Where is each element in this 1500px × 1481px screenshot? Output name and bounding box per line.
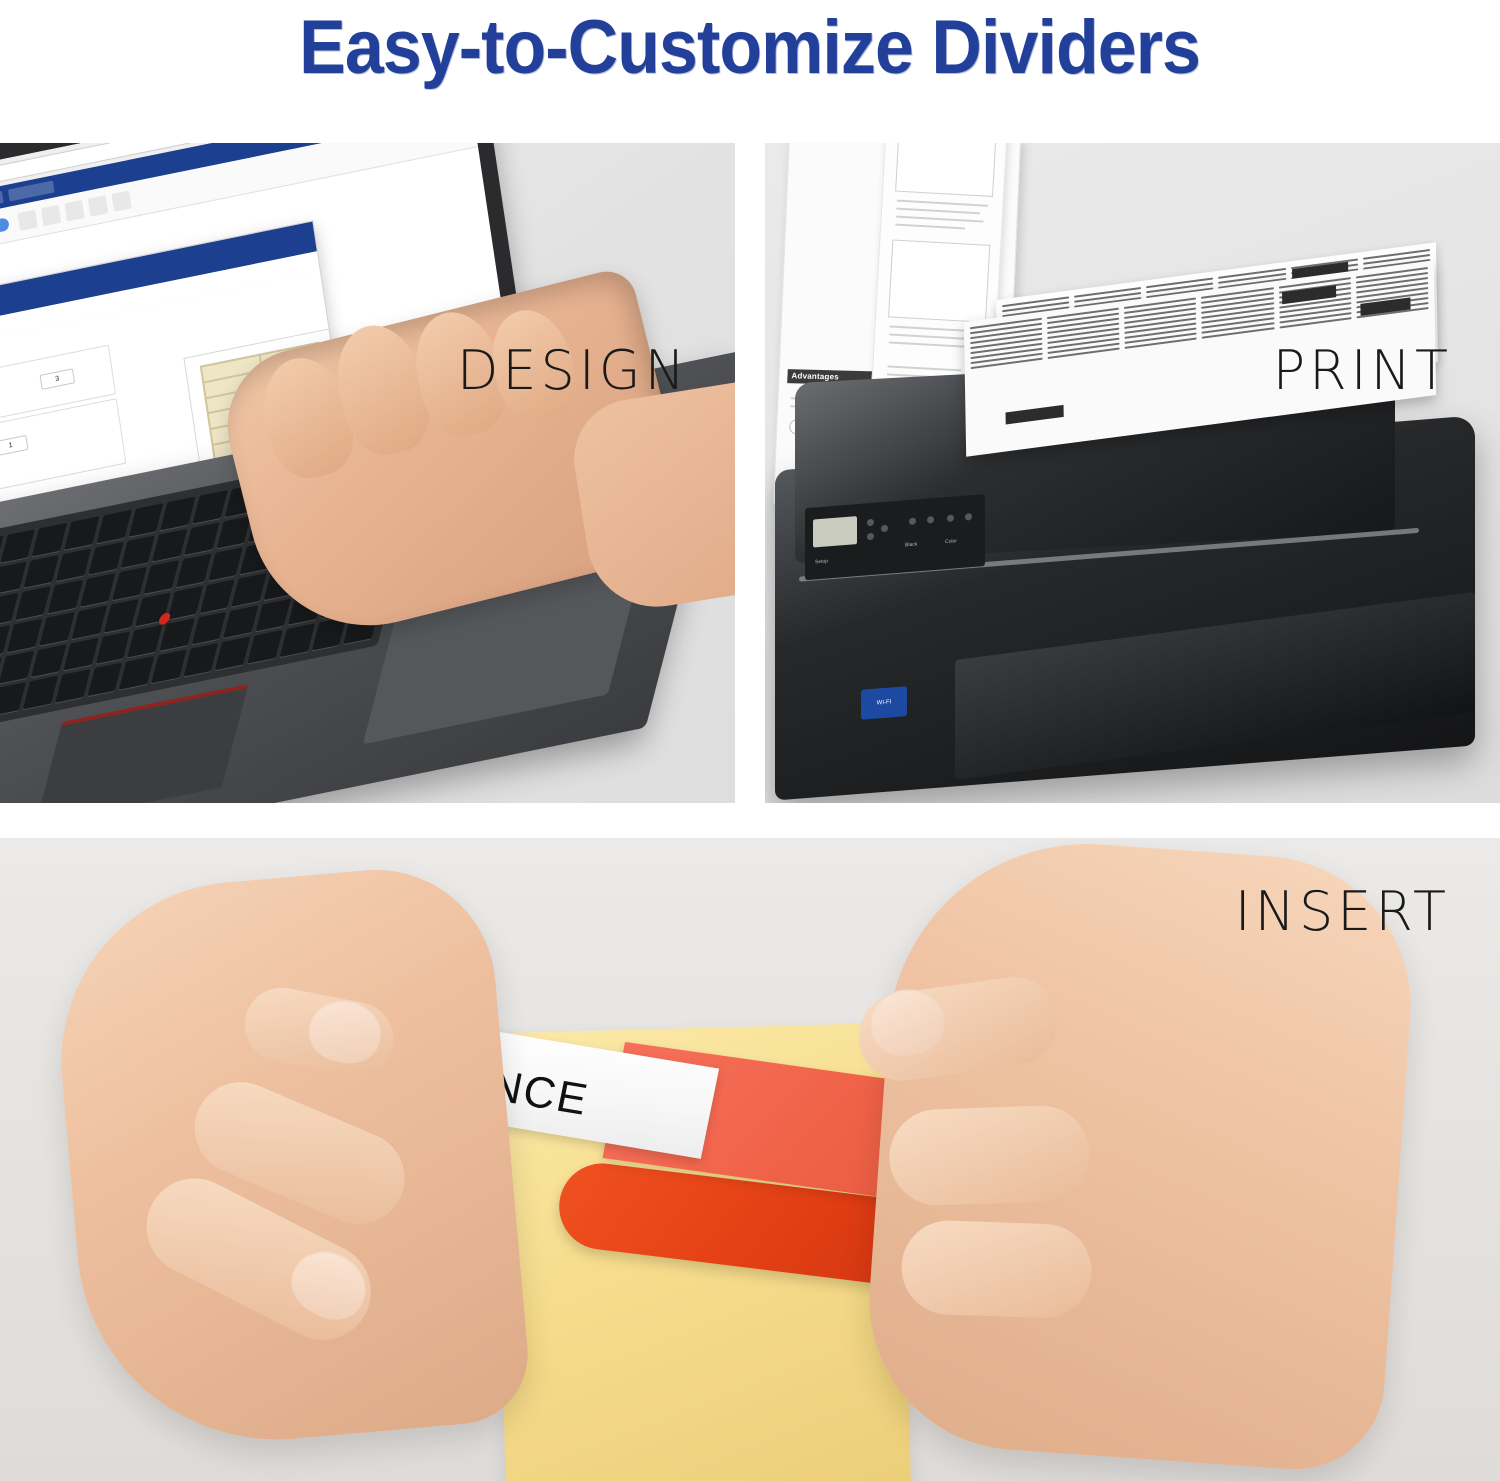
key[interactable] — [119, 656, 154, 689]
key[interactable] — [232, 573, 267, 606]
printer-control-panel[interactable]: Black Color Setup — [805, 494, 985, 580]
product-infographic: Easy-to-Customize Dividers — [0, 0, 1500, 1481]
sheet-thumbnail[interactable] — [513, 143, 528, 258]
key[interactable] — [0, 593, 19, 626]
key[interactable] — [215, 637, 250, 670]
key[interactable] — [191, 611, 226, 644]
key[interactable] — [39, 612, 74, 645]
edit-all-button[interactable] — [502, 143, 528, 147]
key[interactable] — [87, 663, 122, 696]
key[interactable] — [256, 598, 291, 631]
key[interactable] — [128, 503, 163, 536]
key[interactable] — [80, 574, 115, 607]
finger-index — [888, 1104, 1091, 1207]
toolbar-text-icon[interactable] — [17, 210, 37, 231]
printed-column — [1201, 287, 1275, 419]
feed-sheet-rule — [887, 365, 961, 371]
panel-label-insert: INSERT — [1235, 880, 1450, 943]
key[interactable] — [31, 644, 66, 677]
key[interactable] — [184, 522, 219, 555]
page-title: Easy-to-Customize Dividers — [300, 8, 1201, 88]
key[interactable] — [112, 567, 147, 600]
key[interactable] — [208, 547, 243, 580]
key[interactable] — [144, 561, 179, 594]
toolbar-grid-icon[interactable] — [111, 190, 131, 211]
key[interactable] — [88, 542, 123, 575]
feed-sheet-rule — [889, 333, 969, 339]
sets-field-input[interactable]: 3 — [40, 368, 76, 390]
printed-column — [1124, 297, 1198, 429]
key[interactable] — [176, 554, 211, 587]
key[interactable] — [279, 624, 314, 657]
key[interactable] — [71, 606, 106, 639]
panel-insert: NANCE INSERT — [0, 838, 1500, 1481]
laptop-illustration: Dividers Creator Fill options > Add text… — [0, 173, 735, 803]
key[interactable] — [200, 579, 235, 612]
key[interactable] — [151, 650, 186, 683]
key[interactable] — [247, 630, 282, 663]
feed-sheet-rule — [896, 216, 984, 223]
key[interactable] — [16, 587, 51, 620]
key[interactable] — [55, 669, 90, 702]
key[interactable] — [95, 631, 130, 664]
key[interactable] — [0, 651, 34, 684]
key[interactable] — [56, 548, 91, 581]
feed-sheet-rule — [895, 224, 965, 230]
key[interactable] — [7, 619, 42, 652]
key[interactable] — [183, 643, 218, 676]
printer-color-copy-icon[interactable] — [927, 516, 934, 524]
toolbar-image-icon[interactable] — [41, 205, 61, 226]
key[interactable] — [48, 580, 83, 613]
key[interactable] — [0, 682, 26, 715]
printer-ok-icon[interactable] — [881, 525, 888, 533]
finger-middle — [900, 1219, 1093, 1320]
printer-control-caption-0: Black — [905, 541, 917, 548]
printed-column — [970, 318, 1044, 450]
key[interactable] — [104, 599, 139, 632]
illustration-step-2 — [888, 239, 990, 322]
printer-control-caption-2: Setup — [815, 558, 828, 565]
wifi-icon: WI-FI — [861, 686, 907, 720]
key[interactable] — [192, 490, 227, 523]
headline-banner: Easy-to-Customize Dividers — [0, 0, 1500, 96]
key[interactable] — [0, 561, 27, 594]
key[interactable] — [0, 529, 35, 562]
printed-column — [1047, 308, 1121, 440]
toolbar-zoom-icon[interactable] — [88, 195, 108, 216]
key[interactable] — [216, 516, 251, 549]
feed-sheet-rule — [896, 208, 980, 215]
key[interactable] — [64, 516, 99, 549]
toolbar-customize-button[interactable] — [0, 217, 10, 240]
printer-black-copy-icon[interactable] — [909, 517, 916, 525]
printer-control-caption-1: Color — [945, 538, 957, 545]
key[interactable] — [24, 555, 59, 588]
printer-scan-icon[interactable] — [947, 514, 954, 522]
key[interactable] — [160, 497, 195, 530]
panel-label-print: PRINT — [1273, 339, 1452, 402]
printer-illustration: Advantages 50% LARGER TABS Regular Tabs — [765, 143, 1500, 803]
start-at-field-input[interactable]: 1 — [0, 435, 28, 457]
key[interactable] — [224, 605, 259, 638]
printer-body: Black Color Setup WI-FI — [775, 415, 1475, 800]
key[interactable] — [63, 637, 98, 670]
toolbar-shape-icon[interactable] — [64, 200, 84, 221]
key[interactable] — [96, 510, 131, 543]
hand-left — [46, 860, 533, 1456]
illustration-step-1 — [895, 143, 996, 197]
key[interactable] — [23, 676, 58, 709]
key[interactable] — [32, 523, 67, 556]
panel-design: Dividers Creator Fill options > Add text… — [0, 143, 735, 803]
panel-print: Advantages 50% LARGER TABS Regular Tabs — [765, 143, 1500, 803]
printer-lcd-screen — [813, 516, 857, 547]
key[interactable] — [168, 586, 203, 619]
feed-sheet-rule — [897, 200, 989, 207]
printer-nav-up-icon[interactable] — [867, 519, 874, 527]
key[interactable] — [127, 624, 162, 657]
printer-output-tray — [955, 592, 1475, 780]
panel-label-design: DESIGN — [457, 339, 689, 402]
printer-stop-icon[interactable] — [965, 513, 972, 521]
printer-nav-down-icon[interactable] — [867, 533, 874, 541]
key[interactable] — [152, 529, 187, 562]
key[interactable] — [120, 535, 155, 568]
